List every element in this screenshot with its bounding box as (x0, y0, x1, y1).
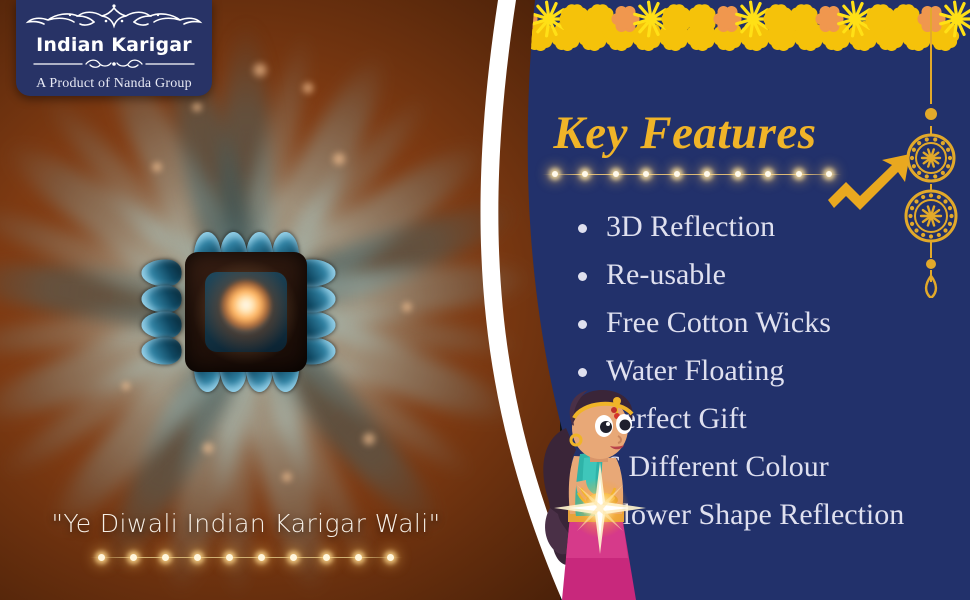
diya-petal (142, 260, 182, 287)
ornamental-flourish-icon (24, 4, 204, 30)
diya-petal (142, 286, 182, 313)
brand-logo: Indian Karigar A Product of Nanda Group (16, 0, 212, 96)
light-speck (280, 470, 294, 484)
feature-item: 3D Reflection (572, 203, 944, 251)
marigold-garland-icon (470, 0, 970, 62)
light-bulb (765, 171, 771, 177)
diya-petal (142, 338, 182, 365)
light-bulb (582, 171, 588, 177)
light-speck (200, 440, 216, 456)
light-bulb (613, 171, 619, 177)
light-bulb (355, 554, 362, 561)
light-bulb (162, 554, 169, 561)
page-title: Key Features (470, 106, 900, 160)
feature-item: Re-usable (572, 251, 944, 299)
light-bulb (704, 171, 710, 177)
light-bulb (643, 171, 649, 177)
light-speck (250, 60, 270, 80)
light-bulb (552, 171, 558, 177)
marigold-flower (789, 4, 819, 33)
light-bulb (735, 171, 741, 177)
product-banner: "Ye Diwali Indian Karigar Wali" (0, 0, 970, 600)
light-speck (330, 150, 348, 168)
light-bulb (194, 554, 201, 561)
light-bulb (323, 554, 330, 561)
product-tagline: "Ye Diwali Indian Karigar Wali" (0, 509, 492, 538)
girl-with-diya-icon (518, 388, 658, 600)
light-speck (120, 380, 132, 392)
marigold-flower (687, 4, 717, 33)
light-bulb (674, 171, 680, 177)
light-bulb (290, 554, 297, 561)
light-bulb (258, 554, 265, 561)
brand-name: Indian Karigar (16, 36, 212, 55)
light-speck (150, 160, 164, 174)
light-bulb (796, 171, 802, 177)
light-speck (190, 100, 204, 114)
ornamental-rule-icon (24, 58, 204, 70)
tagline-light-string (0, 548, 492, 566)
light-bulb (130, 554, 137, 561)
product-tagline-block: "Ye Diwali Indian Karigar Wali" (0, 509, 492, 566)
light-bulb (98, 554, 105, 561)
diya-petal (142, 312, 182, 339)
light-speck (360, 430, 378, 448)
light-speck (300, 80, 316, 96)
marigold-flower (585, 4, 615, 33)
light-bulb (826, 171, 832, 177)
light-bulb (387, 554, 394, 561)
feature-item: Free Cotton Wicks (572, 299, 944, 347)
light-bulb (226, 554, 233, 561)
light-speck (400, 300, 414, 314)
glass-diya-icon (155, 224, 337, 400)
brand-subtitle: A Product of Nanda Group (16, 76, 212, 92)
title-light-string (542, 166, 842, 182)
flame-icon (221, 280, 271, 330)
